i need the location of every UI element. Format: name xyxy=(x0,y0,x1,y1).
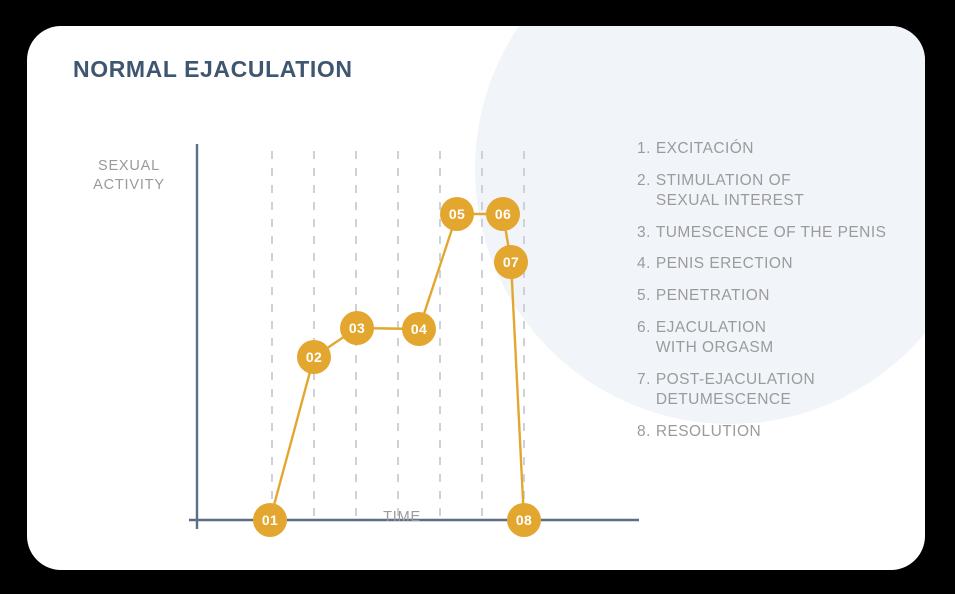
legend-item-label: TUMESCENCE OF THE PENIS xyxy=(656,223,925,244)
legend-item-number: 7. xyxy=(637,370,651,411)
legend-item-number: 8. xyxy=(637,422,651,443)
legend-item-7: 7.POST-EJACULATION DETUMESCENCE xyxy=(637,370,925,411)
legend-item-label: EJACULATION WITH ORGASM xyxy=(656,318,925,359)
legend-item-1: 1.EXCITACIÓN xyxy=(637,139,925,160)
sexual-response-line-chart: 0102030405060708 SEXUAL ACTIVITY TIME xyxy=(27,26,647,570)
data-point-marker-03: 03 xyxy=(340,311,374,345)
legend-item-label: PENIS ERECTION xyxy=(656,254,925,275)
legend-item-number: 2. xyxy=(637,171,651,212)
legend-item-number: 4. xyxy=(637,254,651,275)
data-point-marker-07: 07 xyxy=(494,245,528,279)
data-point-marker-06: 06 xyxy=(486,197,520,231)
chart-gridlines xyxy=(272,151,524,520)
legend-item-4: 4.PENIS ERECTION xyxy=(637,254,925,275)
legend-item-label: POST-EJACULATION DETUMESCENCE xyxy=(656,370,925,411)
y-axis-label: SEXUAL ACTIVITY xyxy=(77,157,181,195)
legend-item-6: 6.EJACULATION WITH ORGASM xyxy=(637,318,925,359)
legend-item-8: 8.RESOLUTION xyxy=(637,422,925,443)
data-point-marker-08: 08 xyxy=(507,503,541,537)
screenshot-root: NORMAL EJACULATION 0102030405060708 SEXU… xyxy=(0,0,955,594)
data-point-marker-05: 05 xyxy=(440,197,474,231)
legend-item-number: 5. xyxy=(637,286,651,307)
chart-legend: 1.EXCITACIÓN2.STIMULATION OF SEXUAL INTE… xyxy=(637,139,925,454)
legend-item-3: 3.TUMESCENCE OF THE PENIS xyxy=(637,223,925,244)
chart-svg xyxy=(27,26,647,570)
legend-item-label: STIMULATION OF SEXUAL INTEREST xyxy=(656,171,925,212)
legend-item-label: PENETRATION xyxy=(656,286,925,307)
infographic-card: NORMAL EJACULATION 0102030405060708 SEXU… xyxy=(27,26,925,570)
data-point-marker-02: 02 xyxy=(297,340,331,374)
legend-item-5: 5.PENETRATION xyxy=(637,286,925,307)
legend-item-number: 3. xyxy=(637,223,651,244)
legend-item-2: 2.STIMULATION OF SEXUAL INTEREST xyxy=(637,171,925,212)
data-point-marker-04: 04 xyxy=(402,312,436,346)
legend-item-label: RESOLUTION xyxy=(656,422,925,443)
legend-item-number: 1. xyxy=(637,139,651,160)
legend-item-label: EXCITACIÓN xyxy=(656,139,925,160)
x-axis-label: TIME xyxy=(342,508,462,527)
legend-item-number: 6. xyxy=(637,318,651,359)
data-point-marker-01: 01 xyxy=(253,503,287,537)
